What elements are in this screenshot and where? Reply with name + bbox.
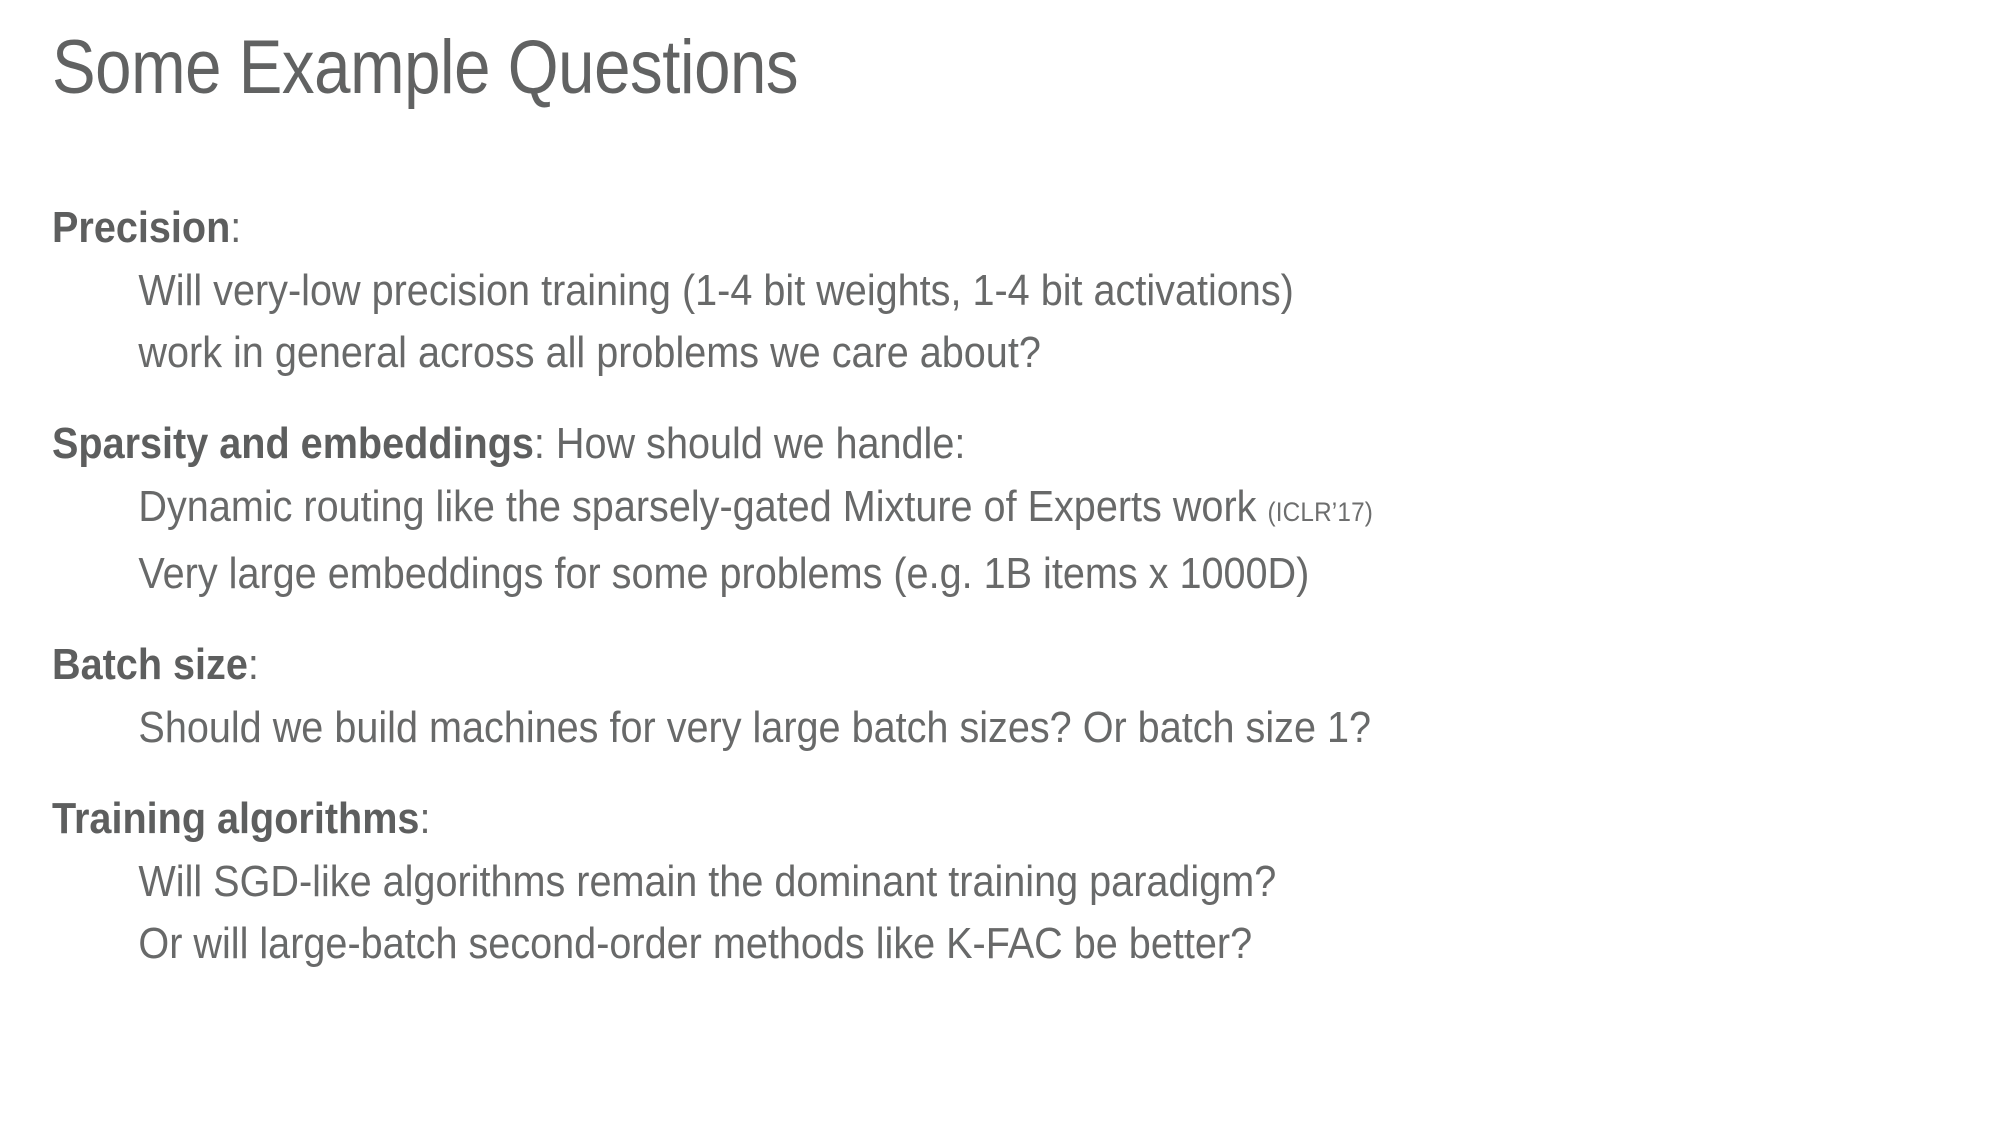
question-heading: Batch size: [52, 633, 1780, 697]
question-heading-suffix: : [230, 203, 241, 252]
question-line: Should we build machines for very large … [52, 697, 1780, 759]
question-heading-label: Training algorithms [52, 794, 419, 843]
question-line-text: Dynamic routing like the sparsely-gated … [138, 482, 1267, 531]
question-heading-suffix: : How should we handle: [534, 419, 965, 468]
question-line: Will very-low precision training (1-4 bi… [52, 260, 1780, 322]
question-block-precision: Precision: Will very-low precision train… [52, 196, 1972, 384]
citation-label: (ICLR’17) [1267, 497, 1373, 527]
slide-canvas: Some Example Questions Precision: Will v… [0, 0, 2000, 1125]
question-block-training-algorithms: Training algorithms: Will SGD-like algor… [52, 787, 1972, 975]
page-title: Some Example Questions [52, 22, 798, 114]
question-line: Or will large-batch second-order methods… [52, 913, 1780, 975]
question-heading-label: Sparsity and embeddings [52, 419, 534, 468]
question-line: Very large embeddings for some problems … [52, 543, 1780, 605]
question-list: Precision: Will very-low precision train… [52, 196, 1972, 975]
question-block-sparsity-and-embeddings: Sparsity and embeddings: How should we h… [52, 412, 1972, 605]
question-line: Dynamic routing like the sparsely-gated … [52, 476, 1780, 543]
question-block-batch-size: Batch size: Should we build machines for… [52, 633, 1972, 759]
question-heading-label: Precision [52, 203, 230, 252]
question-heading-suffix: : [419, 794, 430, 843]
question-heading: Training algorithms: [52, 787, 1780, 851]
question-heading: Precision: [52, 196, 1780, 260]
question-heading: Sparsity and embeddings: How should we h… [52, 412, 1780, 476]
question-line: Will SGD-like algorithms remain the domi… [52, 851, 1780, 913]
question-heading-suffix: : [248, 640, 259, 689]
question-heading-label: Batch size [52, 640, 248, 689]
question-line: work in general across all problems we c… [52, 322, 1780, 384]
